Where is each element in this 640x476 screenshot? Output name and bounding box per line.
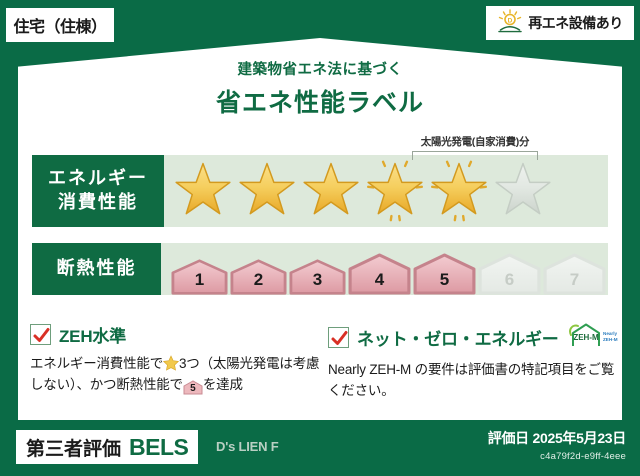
evaluation-id: c4a79f2d-e9ff-4eee bbox=[488, 451, 626, 462]
insulation-badge-track: 1 2 3 4 5 bbox=[161, 243, 608, 295]
insulation-badge-inactive: 7 bbox=[543, 253, 606, 295]
net-zero-energy-body: Nearly ZEH-M の要件は評価書の特記項目をご覧ください。 bbox=[328, 360, 618, 402]
insulation-label-line1: 断熱性能 bbox=[57, 257, 137, 281]
insulation-performance-label-box: 断熱性能 bbox=[32, 243, 161, 295]
solar-annotation-text: 太陽光発電(自家消費)分 bbox=[390, 134, 560, 149]
insulation-badge-value: 1 bbox=[195, 270, 204, 295]
insulation-badge-active: 1 bbox=[171, 259, 228, 295]
insulation-badge-value: 3 bbox=[313, 270, 322, 295]
svg-text:ZEH-M: ZEH-M bbox=[573, 333, 599, 342]
energy-label-line1: エネルギー bbox=[48, 167, 148, 191]
net-zero-energy-note: ネット・ゼロ・エネルギー ZEH-M Nearly ZEH-M Nearly Z… bbox=[328, 322, 618, 402]
zeh-m-logo-icon: ZEH-M Nearly ZEH-M bbox=[569, 322, 629, 353]
insulation-badge-value: 4 bbox=[375, 270, 384, 295]
star-empty bbox=[490, 160, 556, 222]
net-zero-energy-checkbox[interactable] bbox=[328, 327, 349, 348]
svg-text:ZEH-M: ZEH-M bbox=[603, 337, 618, 342]
bels-jp-label: 第三者評価 bbox=[26, 434, 121, 461]
star-filled bbox=[362, 160, 428, 222]
star-filled bbox=[234, 160, 300, 222]
sun-icon: D bbox=[497, 9, 523, 38]
net-zero-energy-title: ネット・ゼロ・エネルギー bbox=[357, 325, 559, 350]
evaluation-date: 評価日 2025年5月23日 bbox=[488, 428, 626, 448]
star-filled bbox=[170, 160, 236, 222]
bels-en-label: BELS bbox=[129, 434, 188, 461]
renewable-energy-text: 再エネ設備あり bbox=[528, 13, 623, 33]
solar-annotation: 太陽光発電(自家消費)分 bbox=[390, 134, 560, 160]
insulation-badge-value: 7 bbox=[570, 270, 579, 295]
zeh-standard-body: エネルギー消費性能で3つ（太陽光発電は考慮しない）、かつ断熱性能で5を達成 bbox=[30, 354, 320, 396]
solar-bracket bbox=[412, 151, 538, 160]
insulation-badge-value: 5 bbox=[440, 270, 449, 295]
energy-performance-row: エネルギー 消費性能 bbox=[32, 155, 608, 227]
zeh-body-part1: エネルギー消費性能で bbox=[30, 356, 163, 371]
svg-text:D: D bbox=[508, 17, 513, 24]
zeh-standard-note: ZEH水準 エネルギー消費性能で3つ（太陽光発電は考慮しない）、かつ断熱性能で5… bbox=[30, 322, 320, 396]
insulation-badge-active: 3 bbox=[289, 259, 346, 295]
energy-performance-label-box: エネルギー 消費性能 bbox=[32, 155, 164, 227]
insulation-badge-value: 2 bbox=[254, 270, 263, 295]
zeh-body-part3: を達成 bbox=[203, 377, 243, 392]
zeh-standard-header: ZEH水準 bbox=[30, 322, 320, 347]
inline-star-icon bbox=[163, 355, 179, 371]
insulation-badge-active: 4 bbox=[348, 253, 411, 295]
evaluation-date-value: 2025年5月23日 bbox=[532, 430, 626, 446]
star-filled bbox=[298, 160, 364, 222]
footer-meta: 評価日 2025年5月23日 c4a79f2d-e9ff-4eee bbox=[488, 428, 626, 462]
evaluation-date-label: 評価日 bbox=[488, 430, 529, 446]
energy-performance-label: 住宅（住棟） D 再エネ設備あり 建築物省エネ法に基づく 省エネ bbox=[0, 0, 640, 476]
star-rating-track bbox=[164, 155, 608, 227]
insulation-badge-value: 6 bbox=[505, 270, 514, 295]
footer: 第三者評価 BELS D's LIEN F 評価日 2025年5月23日 c4a… bbox=[0, 420, 640, 476]
star-filled bbox=[426, 160, 492, 222]
energy-label-line2: 消費性能 bbox=[58, 191, 138, 215]
inline-insulation-badge: 5 bbox=[183, 380, 203, 395]
inline-badge-value: 5 bbox=[183, 380, 203, 398]
bels-badge: 第三者評価 BELS bbox=[16, 430, 198, 464]
renewable-energy-chip: D 再エネ設備あり bbox=[486, 6, 634, 40]
building-name: D's LIEN F bbox=[216, 439, 279, 454]
insulation-badge-active: 5 bbox=[413, 253, 476, 295]
page-title: 建築物省エネ法に基づく 省エネ性能ラベル bbox=[0, 58, 640, 119]
insulation-performance-row: 断熱性能 1 2 3 4 bbox=[32, 243, 608, 295]
zeh-standard-title: ZEH水準 bbox=[59, 322, 126, 347]
net-zero-energy-header: ネット・ゼロ・エネルギー ZEH-M Nearly ZEH-M bbox=[328, 322, 618, 353]
title-subtitle: 建築物省エネ法に基づく bbox=[0, 58, 640, 79]
building-type-chip: 住宅（住棟） bbox=[6, 8, 114, 42]
svg-text:Nearly: Nearly bbox=[603, 331, 617, 336]
title-main: 省エネ性能ラベル bbox=[0, 83, 640, 119]
zeh-standard-checkbox[interactable] bbox=[30, 324, 51, 345]
insulation-badge-active: 2 bbox=[230, 259, 287, 295]
insulation-badge-inactive: 6 bbox=[478, 253, 541, 295]
building-type-text: 住宅（住棟） bbox=[13, 13, 106, 37]
